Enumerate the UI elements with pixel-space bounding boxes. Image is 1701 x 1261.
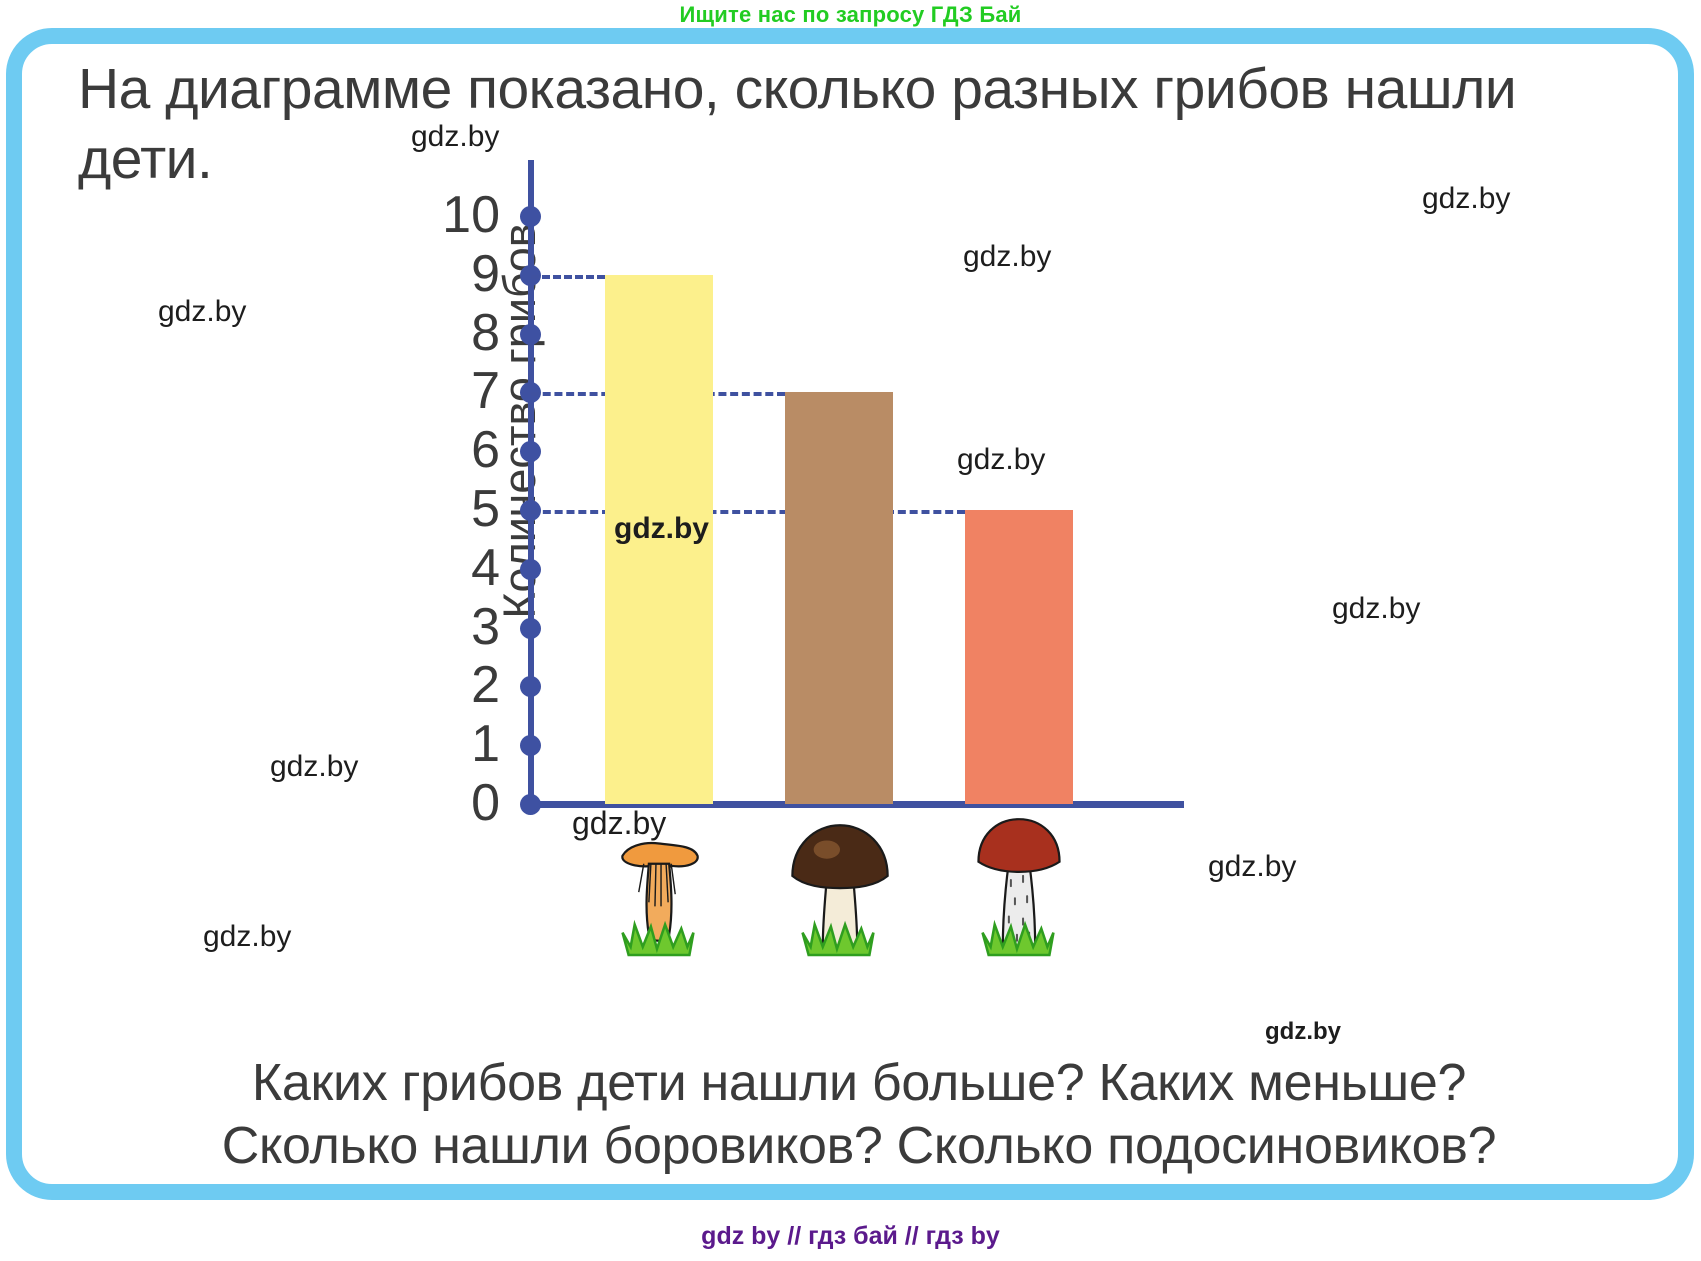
watermark: gdz.by <box>1208 850 1296 884</box>
y-tick-dot <box>520 206 541 227</box>
watermark: gdz.by <box>572 805 666 842</box>
guide-line-9 <box>531 275 605 279</box>
watermark: gdz.by <box>158 295 246 329</box>
bar-chart: Количество грибов 012345678910 <box>380 160 1280 960</box>
watermark: gdz.by <box>963 240 1051 274</box>
y-tick-label: 4 <box>410 542 500 594</box>
watermark: gdz.by <box>1332 592 1420 626</box>
aspen-mushroom-icon <box>958 805 1080 962</box>
y-tick-label: 10 <box>410 189 500 241</box>
question-line-2: Сколько нашли боровиков? Сколько подосин… <box>74 1115 1644 1178</box>
y-tick-dot <box>520 618 541 639</box>
y-tick-label: 6 <box>410 424 500 476</box>
bar-подосиновики <box>965 510 1073 804</box>
watermark: gdz.by <box>270 750 358 784</box>
y-axis-title: Количество грибов <box>494 161 546 681</box>
bar-боровики <box>785 392 893 804</box>
watermark: gdz.by <box>957 443 1045 477</box>
promo-banner: Ищите нас по запросу ГДЗ Бай <box>0 0 1701 30</box>
y-tick-dot <box>520 735 541 756</box>
headline-line-1: На диаграмме показано, сколько разных гр… <box>78 57 1516 121</box>
y-tick-dot <box>520 676 541 697</box>
y-tick-label: 1 <box>410 718 500 770</box>
headline-line-2: дети. <box>78 127 212 191</box>
y-tick-label: 8 <box>410 307 500 359</box>
watermark: gdz.by <box>1422 182 1510 216</box>
y-tick-label: 2 <box>410 659 500 711</box>
y-tick-label: 3 <box>410 601 500 653</box>
y-tick-label: 7 <box>410 365 500 417</box>
y-axis-line <box>528 160 534 808</box>
y-tick-label: 9 <box>410 248 500 300</box>
watermark: gdz.by <box>1265 1018 1341 1046</box>
y-tick-label: 0 <box>410 777 500 829</box>
question-line-1: Каких грибов дети нашли больше? Каких ме… <box>74 1052 1644 1115</box>
watermark: gdz.by <box>614 512 709 546</box>
guide-line-5 <box>531 510 965 514</box>
footer-links: gdz by // гдз бай // гдз by <box>0 1222 1701 1251</box>
y-tick-dot <box>520 794 541 815</box>
y-tick-dot <box>520 324 541 345</box>
page-root: Ищите нас по запросу ГДЗ Бай На диаграмм… <box>0 0 1701 1261</box>
porcini-mushroom-icon <box>778 805 900 962</box>
y-tick-label: 5 <box>410 483 500 535</box>
y-tick-dot <box>520 559 541 580</box>
watermark: gdz.by <box>411 120 499 154</box>
questions-block: Каких грибов дети нашли больше? Каких ме… <box>74 1052 1644 1179</box>
watermark: gdz.by <box>203 920 291 954</box>
